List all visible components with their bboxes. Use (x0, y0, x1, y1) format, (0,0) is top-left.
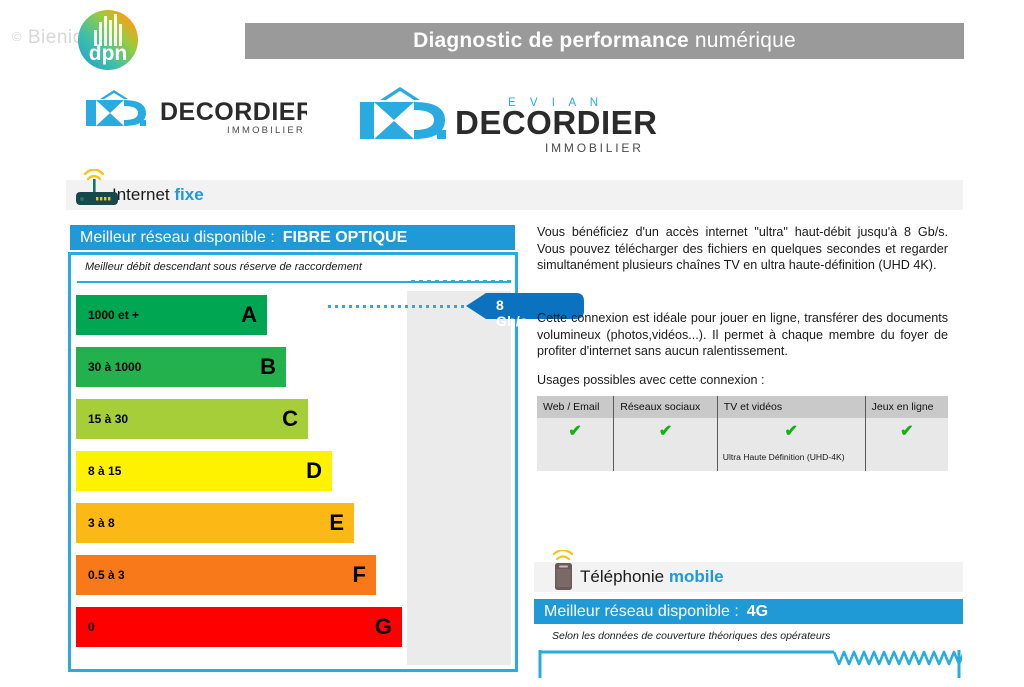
chart-bar-c-range: 15 à 30 (88, 412, 128, 426)
chart-bar-c-grade: C (282, 406, 298, 432)
chart-bar-row: 1000 et + A (76, 295, 515, 343)
decordier-logo-small-svg: DECORDIER IMMOBILIER (82, 86, 307, 141)
section-internet-label-accent: fixe (174, 185, 203, 204)
dpn-logo: dpn (76, 8, 140, 72)
copyright-icon: © (12, 29, 22, 44)
chart-bar-d-grade: D (306, 458, 322, 484)
router-icon (74, 169, 120, 209)
chart-bar-row: 15 à 30 C (76, 399, 515, 447)
info-paragraph-2: Cette connexion est idéale pour jouer en… (537, 310, 948, 360)
best-network-fibre-text: Meilleur réseau disponible : (80, 229, 275, 247)
chart-bar-d: 8 à 15 D (76, 451, 332, 491)
svg-text:dpn: dpn (89, 42, 127, 65)
chart-highlight-connector (328, 305, 468, 308)
chart-bar-e: 3 à 8 E (76, 503, 354, 543)
chart-bar-e-range: 3 à 8 (88, 516, 115, 530)
chart-bar-a-grade: A (241, 302, 257, 328)
chart-bar-row: 0.5 à 3 F (76, 555, 515, 603)
chart-bar-a: 1000 et + A (76, 295, 267, 335)
speed-badge-value: 8 Gb/s (496, 297, 528, 329)
usage-header-gaming: Jeux en ligne (865, 396, 948, 418)
mobile-coverage-wave (538, 648, 962, 682)
best-network-fibre-bar: Meilleur réseau disponible : FIBRE OPTIQ… (70, 225, 515, 250)
section-mobile-label: Téléphonie mobile (580, 567, 724, 587)
usage-cell-tv-note: Ultra Haute Définition (UHD-4K) (723, 452, 860, 463)
page-title-bold: Diagnostic de performance (413, 29, 689, 52)
chart-bar-row: 3 à 8 E (76, 503, 515, 551)
chart-bar-d-range: 8 à 15 (88, 464, 121, 478)
usage-table-header-row: Web / Email Réseaux sociaux TV et vidéos… (537, 396, 948, 418)
chart-bar-a-range: 1000 et + (88, 308, 139, 322)
usage-header-tv: TV et vidéos (717, 396, 865, 418)
decordier-logo-big-svg: E V I A N DECORDIER IMMOBILIER (355, 80, 675, 158)
mobile-phone-icon (546, 550, 580, 592)
chart-bar-b-range: 30 à 1000 (88, 360, 141, 374)
best-network-fibre-value: FIBRE OPTIQUE (283, 229, 407, 247)
page-header-bar: Diagnostic de performance numérique (245, 23, 964, 59)
page-title-light: numérique (689, 29, 796, 52)
info-paragraph-1: Vous bénéficiez d'un accès internet "ult… (537, 224, 948, 274)
chart-caption-dots (411, 280, 511, 283)
section-internet-label-main: Internet (112, 185, 174, 204)
chart-bar-f-grade: F (353, 562, 366, 588)
usage-table-row: ✔ ✔ ✔ Ultra Haute Définition (UHD-4K) ✔ (537, 418, 948, 471)
best-network-mobile-text: Meilleur réseau disponible : (544, 603, 739, 621)
decordier-small-name: DECORDIER (160, 98, 307, 126)
usage-cell-gaming: ✔ (865, 418, 948, 471)
usage-header-web: Web / Email (537, 396, 614, 418)
usage-cell-web: ✔ (537, 418, 614, 471)
section-mobile-label-main: Téléphonie (580, 567, 669, 586)
decordier-small-sub: IMMOBILIER (227, 125, 305, 136)
chart-bar-b: 30 à 1000 B (76, 347, 286, 387)
usage-header-social: Réseaux sociaux (614, 396, 718, 418)
chart-bar-e-grade: E (329, 510, 344, 536)
decordier-big-name: DECORDIER (455, 104, 658, 141)
mobile-coverage-rule (538, 648, 962, 682)
info-paragraph-3: Usages possibles avec cette connexion : (537, 372, 948, 389)
check-icon: ✔ (871, 424, 943, 439)
dpn-logo-svg: dpn (76, 8, 140, 72)
chart-bar-c: 15 à 30 C (76, 399, 308, 439)
check-icon: ✔ (619, 424, 712, 439)
page-title: Diagnostic de performance numérique (413, 29, 796, 53)
chart-bar-g-range: 0 (88, 620, 95, 634)
chart-bars: 1000 et + A 30 à 1000 B 15 à 30 C 8 à 15 (76, 295, 515, 669)
section-telephonie-mobile: Téléphonie mobile (534, 562, 963, 592)
chart-bar-row: 8 à 15 D (76, 451, 515, 499)
usage-cell-social: ✔ (614, 418, 718, 471)
chart-bar-row: 0 G (76, 607, 515, 655)
decordier-big-sub: IMMOBILIER (545, 141, 644, 155)
chart-bar-f-range: 0.5 à 3 (88, 568, 125, 582)
section-mobile-label-accent: mobile (669, 567, 724, 586)
chart-bar-g: 0 G (76, 607, 402, 647)
chart-bar-g-grade: G (375, 614, 392, 640)
dpn-report-page: © Bienici.com (0, 0, 1024, 683)
best-network-mobile-bar: Meilleur réseau disponible : 4G (534, 599, 963, 624)
usage-table: Web / Email Réseaux sociaux TV et vidéos… (537, 396, 948, 471)
usage-cell-tv: ✔ Ultra Haute Définition (UHD-4K) (717, 418, 865, 471)
chart-caption: Meilleur débit descendant sous réserve d… (85, 261, 362, 273)
chart-bar-row: 30 à 1000 B (76, 347, 515, 395)
chart-bar-b-grade: B (260, 354, 276, 380)
chart-bar-f: 0.5 à 3 F (76, 555, 376, 595)
mobile-caption: Selon les données de couverture théoriqu… (552, 630, 830, 642)
section-internet-label: Internet fixe (112, 185, 204, 205)
check-icon: ✔ (723, 424, 860, 439)
section-internet-fixe: Internet fixe (66, 180, 963, 210)
decordier-logo-small: DECORDIER IMMOBILIER (82, 86, 307, 141)
speed-rating-chart: Meilleur débit descendant sous réserve d… (68, 252, 518, 672)
decordier-logo-big: E V I A N DECORDIER IMMOBILIER (355, 80, 675, 158)
best-network-mobile-value: 4G (747, 603, 768, 621)
check-icon: ✔ (542, 424, 608, 439)
